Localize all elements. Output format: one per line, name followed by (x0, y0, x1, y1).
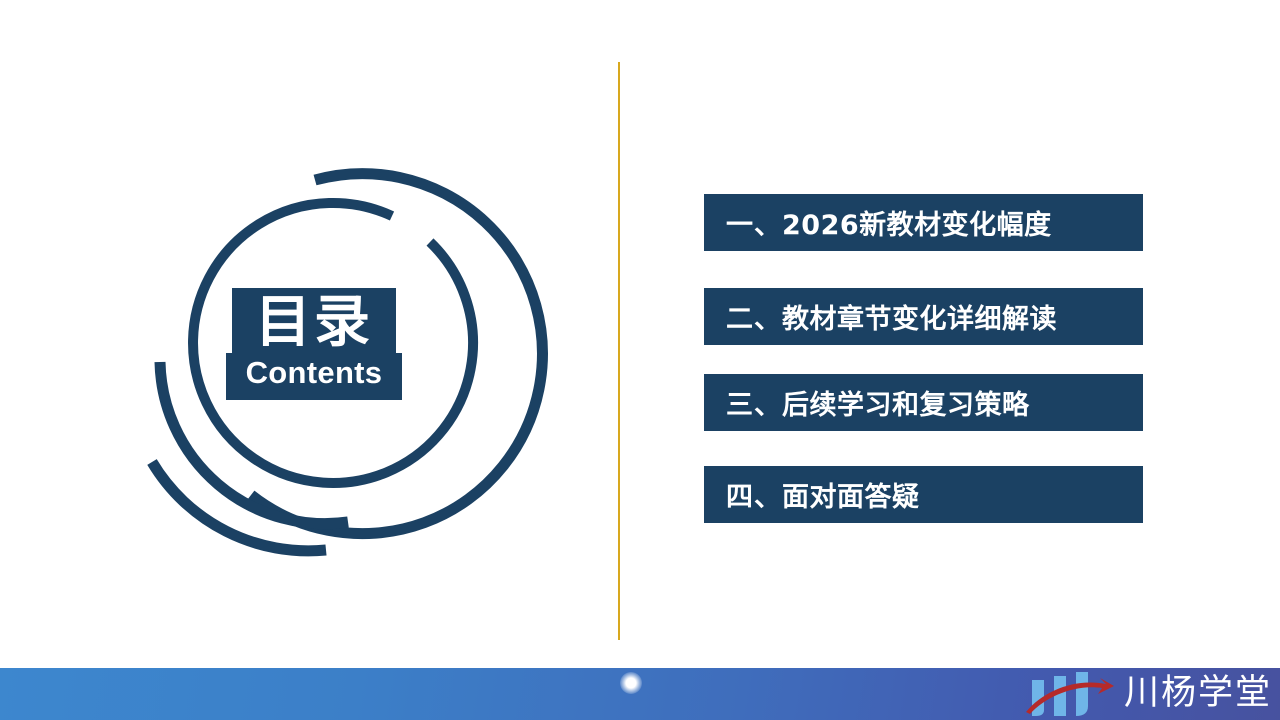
agenda-item-3[interactable]: 三、 后续学习和复习策略 (704, 374, 1143, 431)
agenda-item-4[interactable]: 四、 面对面答疑 (704, 466, 1143, 523)
agenda-gap-1 (704, 251, 1143, 288)
agenda-item-3-label: 后续学习和复习策略 (782, 383, 1030, 422)
agenda-item-1[interactable]: 一、 2026新教材变化幅度 (704, 194, 1143, 251)
agenda-gap-3 (704, 431, 1143, 466)
footer-glow-dot-icon (620, 672, 642, 694)
contents-title-en: Contents (226, 355, 402, 391)
contents-title-cn: 目录 (232, 294, 396, 351)
contents-badge: 目录 Contents (232, 288, 396, 400)
footer-brand-bar: 川杨学堂 (0, 668, 1280, 720)
agenda-list: 一、 2026新教材变化幅度 二、 教材章节变化详细解读 三、 后续学习和复习策… (704, 194, 1143, 523)
contents-badge-bottom: Contents (226, 353, 402, 400)
agenda-item-3-index: 三、 (726, 383, 782, 422)
agenda-item-1-label: 2026新教材变化幅度 (782, 203, 1052, 242)
chuanyang-logo-mark-icon (1022, 670, 1118, 718)
agenda-gap-2 (704, 345, 1143, 374)
contents-badge-top: 目录 (232, 288, 396, 353)
agenda-item-1-index: 一、 (726, 203, 782, 242)
brand-name-text: 川杨学堂 (1124, 676, 1272, 713)
slide-canvas: 目录 Contents 一、 2026新教材变化幅度 二、 教材章节变化详细解读… (0, 0, 1280, 720)
brand-lockup: 川杨学堂 (1022, 668, 1272, 720)
vertical-divider (618, 62, 620, 640)
agenda-item-2-label: 教材章节变化详细解读 (782, 297, 1057, 336)
agenda-item-2[interactable]: 二、 教材章节变化详细解读 (704, 288, 1143, 345)
agenda-item-4-index: 四、 (726, 475, 782, 514)
agenda-item-2-index: 二、 (726, 297, 782, 336)
agenda-item-4-label: 面对面答疑 (782, 475, 920, 514)
